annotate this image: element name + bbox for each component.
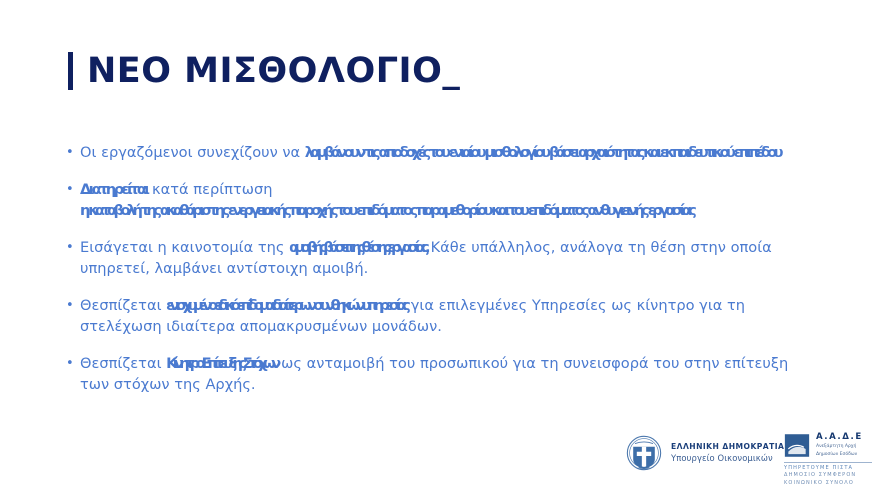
presentation-slide: ΝΕΟ ΜΙΣΘΟΛΟΓΙΟ_ • Οι εργαζόμενοι συνεχίζ… bbox=[0, 0, 880, 495]
aade-motto-line-2: ΔΗΜΟΣΙΟ ΣΥΜΦΕΡΟΝ bbox=[784, 472, 876, 480]
bullet-5-text: Θεσπίζεται Κίνητρο Επίτευξης Στόχων ως α… bbox=[80, 353, 822, 395]
list-item: • Εισάγεται η καινοτομία της αμοιβής βάσ… bbox=[66, 237, 822, 279]
bullet-5-segment-1: Θεσπίζεται bbox=[80, 355, 166, 372]
list-item: • Θεσπίζεται ενισχυμένο ειδικό επίδομα ι… bbox=[66, 295, 822, 337]
bullet-2-segment-1: Διατηρείται bbox=[80, 179, 147, 200]
aade-motto-line-3: ΚΟΙΝΩΝΙΚΟ ΣΥΝΟΛΟ bbox=[784, 480, 876, 488]
aade-logo-top: Α.Α.Δ.Ε Ανεξάρτητη Αρχή Δημοσίων Εσόδων bbox=[784, 433, 876, 459]
bullet-1-segment-1: Οι εργαζόμενοι συνεχίζουν να bbox=[80, 144, 305, 161]
aade-subtitle-line-1: Ανεξάρτητη Αρχή bbox=[816, 444, 863, 451]
bullet-list: • Οι εργαζόμενοι συνεχίζουν να λαμβάνουν… bbox=[66, 142, 822, 411]
list-item: • Θεσπίζεται Κίνητρο Επίτευξης Στόχων ως… bbox=[66, 353, 822, 395]
bullet-4-segment-1: Θεσπίζεται bbox=[80, 297, 166, 314]
bullet-1-text: Οι εργαζόμενοι συνεχίζουν να λαμβάνουν τ… bbox=[80, 142, 822, 163]
bullet-marker-icon: • bbox=[66, 142, 80, 163]
ministry-of-finance-subtitle: Υπουργείο Οικονομικών bbox=[671, 453, 784, 464]
bullet-2-segment-3: η καταβολή της ακαθάριστης ενεργειακής π… bbox=[80, 200, 693, 221]
hellenic-republic-logo-text: ΕΛΛΗΝΙΚΗ ΔΗΜΟΚΡΑΤΙΑ Υπουργείο Οικονομικώ… bbox=[671, 442, 784, 464]
bullet-2-text: Διατηρείται κατά περίπτωση η καταβολή τη… bbox=[80, 179, 822, 221]
title-accent-bar bbox=[68, 52, 73, 90]
hellenic-republic-title: ΕΛΛΗΝΙΚΗ ΔΗΜΟΚΡΑΤΙΑ bbox=[671, 442, 784, 452]
list-item: • Οι εργαζόμενοι συνεχίζουν να λαμβάνουν… bbox=[66, 142, 822, 163]
aade-mark-icon bbox=[784, 433, 810, 458]
bullet-4-text: Θεσπίζεται ενισχυμένο ειδικό επίδομα ιδι… bbox=[80, 295, 822, 337]
bullet-marker-icon: • bbox=[66, 237, 80, 258]
bullet-5-segment-2: Κίνητρο Επίτευξης Στόχων bbox=[166, 353, 276, 374]
bullet-3-segment-2: αμοιβής βάσει της θέσης εργασίας. bbox=[289, 237, 426, 258]
aade-logo: Α.Α.Δ.Ε Ανεξάρτητη Αρχή Δημοσίων Εσόδων … bbox=[784, 433, 876, 488]
title-text: ΝΕΟ ΜΙΣΘΟΛΟΓΙΟ_ bbox=[87, 54, 460, 89]
aade-motto: ΥΠΗΡΕΤΟΥΜΕ ΠΙΣΤΑ ΔΗΜΟΣΙΟ ΣΥΜΦΕΡΟΝ ΚΟΙΝΩΝ… bbox=[784, 465, 876, 488]
bullet-marker-icon: • bbox=[66, 353, 80, 374]
aade-motto-line-1: ΥΠΗΡΕΤΟΥΜΕ ΠΙΣΤΑ bbox=[784, 465, 876, 473]
bullet-4-segment-2: ενισχυμένο ειδικό επίδομα ιδιαίτερων συν… bbox=[166, 295, 406, 316]
aade-logo-words: Α.Α.Δ.Ε Ανεξάρτητη Αρχή Δημοσίων Εσόδων bbox=[816, 433, 863, 459]
bullet-2-segment-2: κατά περίπτωση bbox=[147, 181, 272, 198]
aade-subtitle-line-2: Δημοσίων Εσόδων bbox=[816, 452, 863, 459]
hellenic-republic-logo: ΕΛΛΗΝΙΚΗ ΔΗΜΟΚΡΑΤΙΑ Υπουργείο Οικονομικώ… bbox=[626, 435, 784, 471]
page-title: ΝΕΟ ΜΙΣΘΟΛΟΓΙΟ_ bbox=[68, 52, 460, 90]
hellenic-republic-crest-icon bbox=[626, 435, 662, 471]
bullet-marker-icon: • bbox=[66, 179, 80, 200]
list-item: • Διατηρείται κατά περίπτωση η καταβολή … bbox=[66, 179, 822, 221]
bullet-1-segment-2: λαμβάνουν τις αποδοχές του ενιαίου μισθο… bbox=[305, 142, 780, 163]
aade-divider bbox=[784, 462, 872, 463]
slide-footer: ΕΛΛΗΝΙΚΗ ΔΗΜΟΚΡΑΤΙΑ Υπουργείο Οικονομικώ… bbox=[0, 427, 880, 489]
bullet-marker-icon: • bbox=[66, 295, 80, 316]
bullet-3-text: Εισάγεται η καινοτομία της αμοιβής βάσει… bbox=[80, 237, 822, 279]
bullet-3-segment-1: Εισάγεται η καινοτομία της bbox=[80, 239, 289, 256]
aade-initials: Α.Α.Δ.Ε bbox=[816, 433, 863, 442]
